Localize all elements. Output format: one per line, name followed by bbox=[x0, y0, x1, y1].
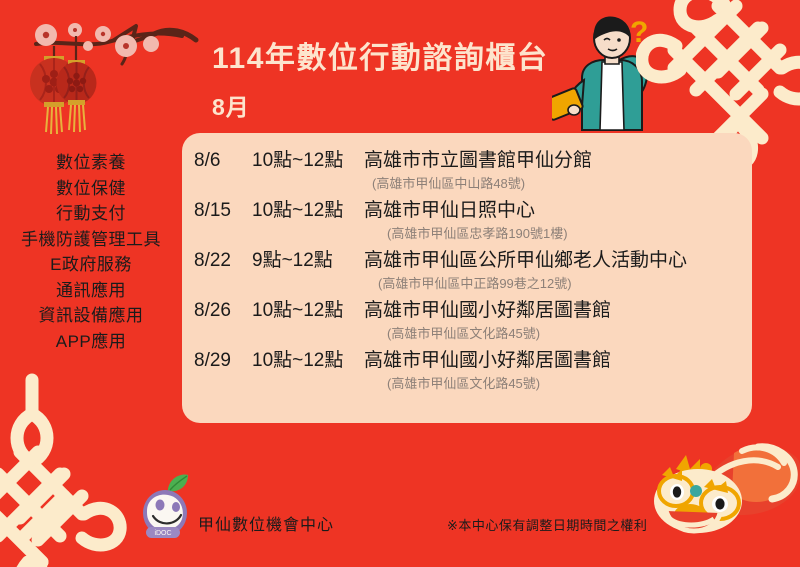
poster-canvas: ? bbox=[0, 0, 800, 567]
schedule-row-main: 8/229點~12點高雄市甲仙區公所甲仙鄉老人活動中心 bbox=[182, 245, 752, 272]
schedule-address: (高雄市甲仙區文化路45號) bbox=[182, 323, 752, 342]
idoc-mascot-icon: iDOC bbox=[140, 473, 194, 539]
schedule-address: (高雄市甲仙區中山路48號) bbox=[182, 173, 752, 192]
topic-item: 手機防護管理工具 bbox=[0, 227, 182, 253]
schedule-row-main: 8/1510點~12點高雄市甲仙日照中心 bbox=[182, 195, 752, 222]
schedule-date: 8/6 bbox=[194, 150, 252, 172]
schedule-venue: 高雄市甲仙日照中心 bbox=[364, 195, 535, 222]
topic-item: 數位素養 bbox=[0, 150, 182, 176]
schedule-row: 8/229點~12點高雄市甲仙區公所甲仙鄉老人活動中心(高雄市甲仙區中正路99巷… bbox=[182, 245, 752, 292]
title-block: 114年數位行動諮詢櫃台 8月 bbox=[212, 42, 642, 122]
schedule-row-main: 8/2910點~12點高雄市甲仙國小好鄰居圖書館 bbox=[182, 345, 752, 372]
schedule-row: 8/1510點~12點高雄市甲仙日照中心(高雄市甲仙區忠孝路190號1樓) bbox=[182, 195, 752, 242]
schedule-venue: 高雄市甲仙國小好鄰居圖書館 bbox=[364, 295, 611, 322]
topic-list: 數位素養數位保健行動支付手機防護管理工具E政府服務通訊應用資訊設備應用APP應用 bbox=[0, 150, 182, 354]
schedule-date: 8/26 bbox=[194, 300, 252, 322]
schedule-row: 8/2910點~12點高雄市甲仙國小好鄰居圖書館(高雄市甲仙區文化路45號) bbox=[182, 345, 752, 392]
topic-item: APP應用 bbox=[0, 329, 182, 355]
schedule-time: 10點~12點 bbox=[252, 295, 364, 322]
topic-item: 資訊設備應用 bbox=[0, 303, 182, 329]
lantern-branch-decoration bbox=[4, 0, 204, 146]
month-label: 8月 bbox=[212, 88, 642, 122]
topic-item: 數位保健 bbox=[0, 176, 182, 202]
schedule-time: 9點~12點 bbox=[252, 245, 364, 272]
schedule-time: 10點~12點 bbox=[252, 345, 364, 372]
schedule-venue: 高雄市市立圖書館甲仙分館 bbox=[364, 145, 592, 172]
schedule-address: (高雄市甲仙區文化路45號) bbox=[182, 373, 752, 392]
schedule-venue: 高雄市甲仙區公所甲仙鄉老人活動中心 bbox=[364, 245, 687, 272]
schedule-row-main: 8/610點~12點高雄市市立圖書館甲仙分館 bbox=[182, 145, 752, 172]
schedule-row: 8/610點~12點高雄市市立圖書館甲仙分館(高雄市甲仙區中山路48號) bbox=[182, 145, 752, 192]
center-name: 甲仙數位機會中心 bbox=[198, 511, 334, 535]
schedule-date: 8/15 bbox=[194, 200, 252, 222]
schedule-address: (高雄市甲仙區忠孝路190號1樓) bbox=[182, 223, 752, 242]
schedule-row: 8/2610點~12點高雄市甲仙國小好鄰居圖書館(高雄市甲仙區文化路45號) bbox=[182, 295, 752, 342]
topic-item: 通訊應用 bbox=[0, 278, 182, 304]
idoc-badge-text: iDOC bbox=[154, 530, 171, 537]
footer-note: ※本中心保有調整日期時間之權利 bbox=[447, 515, 647, 534]
topic-item: 行動支付 bbox=[0, 201, 182, 227]
schedule-time: 10點~12點 bbox=[252, 195, 364, 222]
lion-dance-head-decoration bbox=[646, 423, 800, 553]
schedule-row-main: 8/2610點~12點高雄市甲仙國小好鄰居圖書館 bbox=[182, 295, 752, 322]
schedule-card: 8/610點~12點高雄市市立圖書館甲仙分館(高雄市甲仙區中山路48號)8/15… bbox=[182, 133, 752, 423]
page-title: 114年數位行動諮詢櫃台 bbox=[212, 42, 642, 75]
schedule-address: (高雄市甲仙區中正路99巷之12號) bbox=[182, 273, 752, 292]
schedule-time: 10點~12點 bbox=[252, 145, 364, 172]
schedule-date: 8/22 bbox=[194, 250, 252, 272]
topic-item: E政府服務 bbox=[0, 252, 182, 278]
schedule-date: 8/29 bbox=[194, 350, 252, 372]
chinese-knot-bottom-left-decoration bbox=[0, 370, 138, 567]
schedule-venue: 高雄市甲仙國小好鄰居圖書館 bbox=[364, 345, 611, 372]
center-logo: iDOC 甲仙數位機會中心 bbox=[140, 473, 334, 539]
